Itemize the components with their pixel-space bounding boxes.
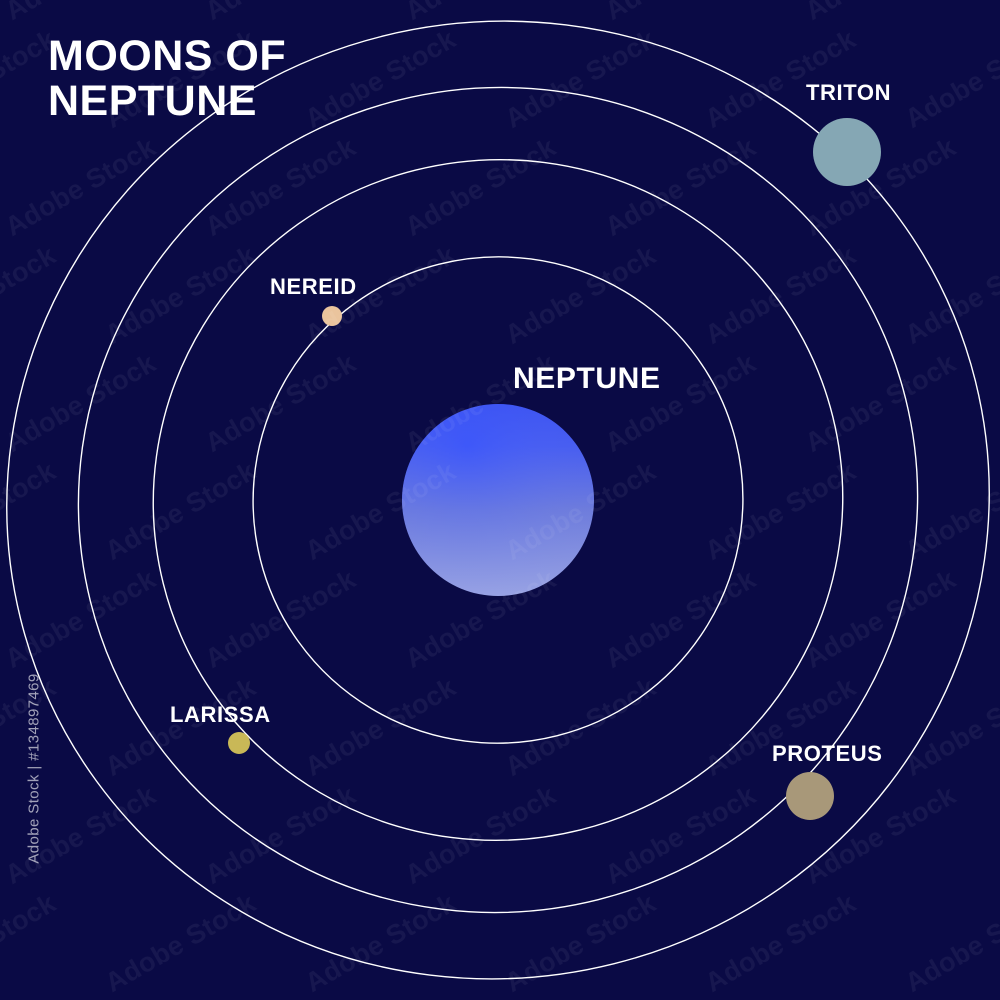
moon-larissa[interactable] <box>228 732 250 754</box>
infographic-canvas: Adobe StockAdobe StockAdobe StockAdobe S… <box>0 0 1000 1000</box>
planet-label-neptune: NEPTUNE <box>513 362 661 396</box>
moon-proteus[interactable] <box>786 772 834 820</box>
moon-label-nereid: NEREID <box>270 274 357 300</box>
planet-neptune <box>402 404 594 596</box>
moon-triton[interactable] <box>813 118 881 186</box>
moon-label-larissa: LARISSA <box>170 702 271 728</box>
orbit-diagram <box>0 0 1000 1000</box>
page-title: MOONS OF NEPTUNE <box>48 34 286 123</box>
stock-credit-text: Adobe Stock | #134897469 <box>26 639 43 899</box>
moon-label-proteus: PROTEUS <box>772 741 883 767</box>
moon-nereid[interactable] <box>322 306 342 326</box>
moon-label-triton: TRITON <box>806 80 891 106</box>
